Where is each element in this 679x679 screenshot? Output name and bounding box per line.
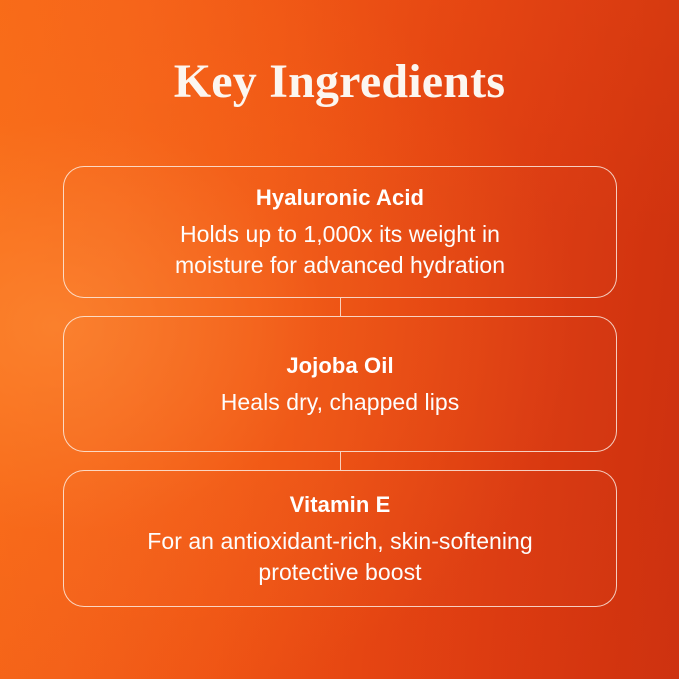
- page-title: Key Ingredients: [0, 56, 679, 108]
- connector-line: [340, 298, 341, 316]
- connector-line: [340, 452, 341, 470]
- ingredient-card-vitamin-e: Vitamin E For an antioxidant-rich, skin-…: [63, 470, 617, 607]
- ingredient-description: Holds up to 1,000x its weight in moistur…: [140, 219, 540, 281]
- ingredient-name: Hyaluronic Acid: [256, 183, 424, 213]
- ingredient-card-hyaluronic-acid: Hyaluronic Acid Holds up to 1,000x its w…: [63, 166, 617, 298]
- ingredient-card-list: Hyaluronic Acid Holds up to 1,000x its w…: [63, 166, 617, 607]
- ingredient-card-jojoba-oil: Jojoba Oil Heals dry, chapped lips: [63, 316, 617, 452]
- ingredient-description: Heals dry, chapped lips: [221, 387, 460, 417]
- ingredient-name: Jojoba Oil: [286, 351, 393, 381]
- key-ingredients-panel: Key Ingredients Hyaluronic Acid Holds up…: [0, 0, 679, 679]
- card-gap: [63, 298, 617, 316]
- ingredient-name: Vitamin E: [290, 490, 391, 520]
- ingredient-description: For an antioxidant-rich, skin-softening …: [140, 526, 540, 588]
- card-gap: [63, 452, 617, 470]
